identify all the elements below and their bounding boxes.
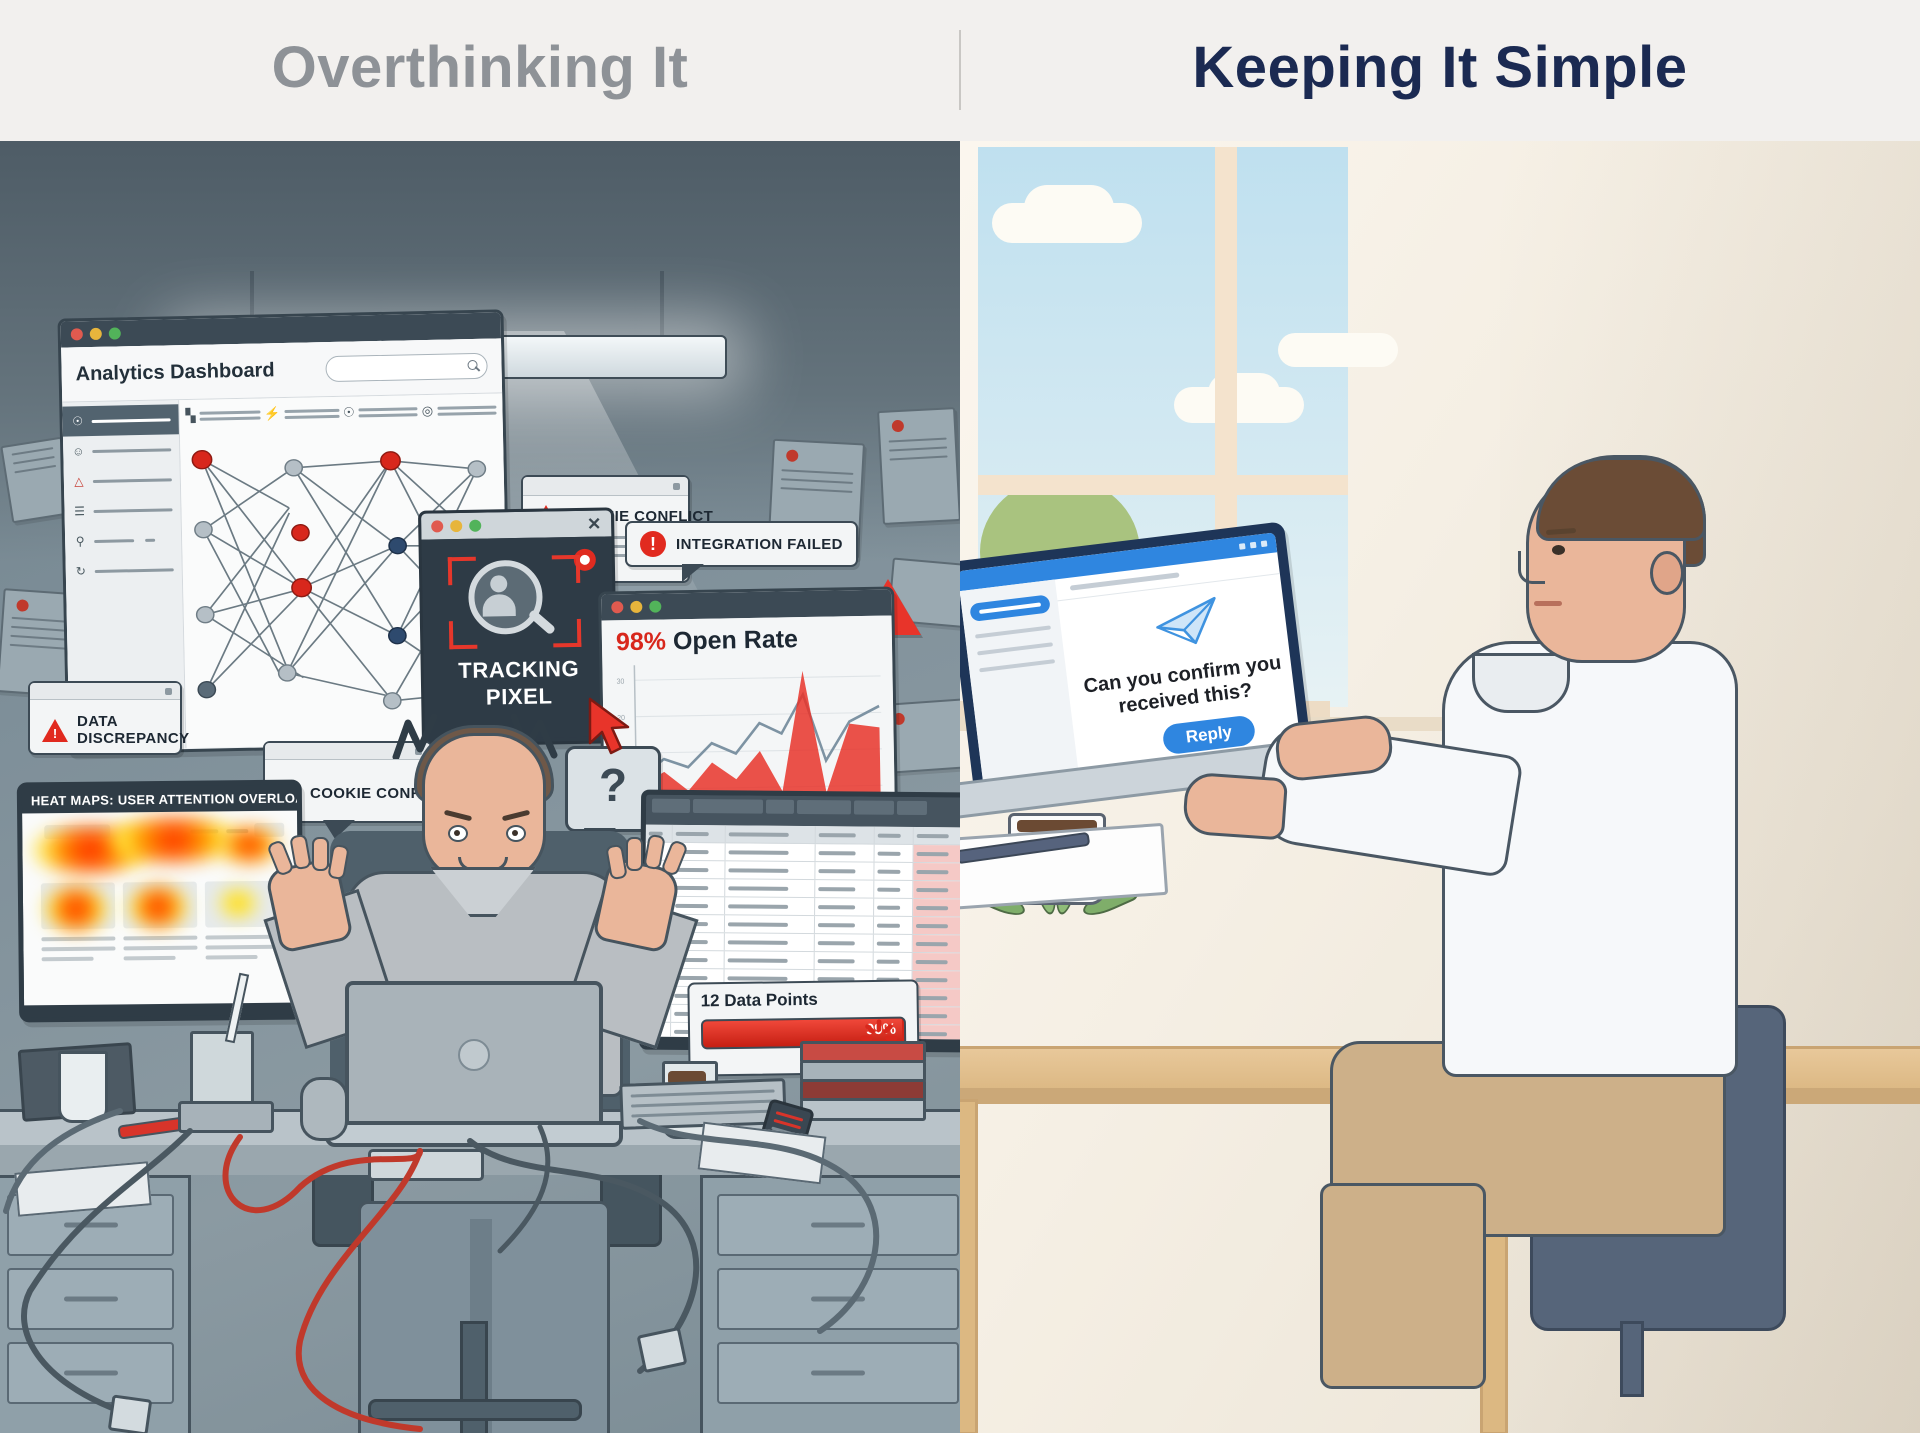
maximize-dot-icon[interactable] <box>109 327 121 339</box>
email-message-text: Can you confirm you received this? <box>1075 650 1293 724</box>
close-icon[interactable]: ✕ <box>587 515 602 532</box>
coffee-cup-paper <box>58 1051 108 1123</box>
laptop-base-left <box>325 1121 623 1147</box>
stat-target: ◎ <box>422 402 497 420</box>
search-input[interactable] <box>325 353 488 382</box>
stat-signal: ▚ <box>185 406 260 424</box>
stat-lightning: ⚡ <box>264 405 339 423</box>
ui-line <box>205 945 279 950</box>
sidebar-item-location[interactable]: ☉ <box>62 404 179 436</box>
bar-chart-icon: ☰ <box>72 504 86 518</box>
person-eye-right <box>506 825 526 842</box>
ui-line <box>123 936 197 941</box>
power-strip <box>368 1149 484 1181</box>
ui-line <box>42 957 94 962</box>
laptop-logo <box>458 1039 490 1071</box>
spreadsheet-toolbar <box>646 795 960 828</box>
data-points-label: 12 Data Points <box>700 989 905 1012</box>
tracking-pixel-body: TRACKING PIXEL <box>421 536 614 739</box>
lamp-stem-right <box>660 271 664 337</box>
warning-icon: △ <box>72 474 86 488</box>
laptop-screen-left[interactable] <box>345 981 603 1129</box>
tracking-pixel-label: TRACKING PIXEL <box>424 654 615 711</box>
target-icon: ◎ <box>422 403 434 419</box>
error-circle-icon: ! <box>640 531 666 557</box>
sidebar-item-alerts[interactable]: △ <box>64 464 181 496</box>
alert-titlebar <box>523 477 688 496</box>
heatmap-screen <box>22 811 299 1006</box>
user-icon: ☺ <box>71 444 85 458</box>
paper-plane-icon <box>1150 594 1226 652</box>
stat-revenue: ☉ <box>343 403 418 421</box>
dashboard-title: Analytics Dashboard <box>75 359 274 386</box>
pin-icon <box>16 599 29 612</box>
dollar-globe-icon: ☉ <box>343 405 355 421</box>
window-titlebar: ✕ <box>421 510 611 539</box>
lightning-bolt-icon: ⚡ <box>264 406 281 422</box>
maximize-dot-icon[interactable] <box>469 520 481 532</box>
desk-cabinet-right <box>700 1175 960 1433</box>
mouth <box>1534 601 1562 606</box>
ear <box>1650 551 1684 595</box>
right-panel-title: Keeping It Simple <box>960 28 1920 108</box>
comparison-illustration: Overthinking It Keeping It Simple <box>0 0 1920 1433</box>
minimize-dot-icon[interactable] <box>630 601 642 613</box>
alert-data-discrepancy[interactable]: DATA DISCREPANCY <box>28 681 182 755</box>
svg-text:30: 30 <box>617 676 625 685</box>
alert-integration-failed[interactable]: ! INTEGRATION FAILED <box>625 521 858 567</box>
person-shin-right <box>1320 1183 1486 1389</box>
cable-connector <box>108 1394 153 1433</box>
warning-triangle-icon <box>42 719 68 742</box>
ui-line <box>206 955 258 960</box>
heatmap-title: HEAT MAPS: USER ATTENTION OVERLOAD <box>22 785 297 814</box>
header-bar: Overthinking It Keeping It Simple <box>0 0 1920 141</box>
pin-icon <box>892 420 905 433</box>
tracking-line-1: TRACKING <box>458 656 579 683</box>
open-rate-heading: 98% Open Rate <box>602 615 893 659</box>
alert-titlebar <box>30 683 180 700</box>
stat-row: ▚ ⚡ ☉ ◎ <box>179 393 502 426</box>
signal-bars-icon: ▚ <box>185 408 195 424</box>
left-panel-title: Overthinking It <box>0 28 960 108</box>
open-rate-label: Open Rate <box>673 625 799 655</box>
refresh-icon: ↻ <box>74 564 88 578</box>
book-stack <box>800 1041 920 1115</box>
computer-mouse[interactable] <box>300 1077 348 1141</box>
compose-button[interactable] <box>969 594 1051 622</box>
wall-note <box>877 407 960 525</box>
alert-text: INTEGRATION FAILED <box>676 536 843 553</box>
usb-hub <box>178 1101 274 1133</box>
close-dot-icon[interactable] <box>71 328 83 340</box>
tracking-line-2: PIXEL <box>486 683 553 709</box>
minimize-dot-icon[interactable] <box>450 520 462 532</box>
bubble-tail <box>682 564 704 582</box>
dashboard-toolbar: Analytics Dashboard <box>61 338 502 402</box>
sidebar-item-charts[interactable]: ☰ <box>64 494 181 526</box>
sidebar-item-user[interactable]: ☺ <box>63 434 180 466</box>
close-dot-icon[interactable] <box>611 601 623 613</box>
chair-base <box>368 1399 582 1421</box>
close-dot-icon[interactable] <box>431 520 443 532</box>
chair-post-right <box>1620 1321 1644 1397</box>
person-hand-right <box>1182 772 1288 841</box>
ui-line <box>124 956 176 961</box>
left-scene-overthinking: Analytics Dashboard ☉ ☺ △ ☰ ⚲ ↻ ▚ <box>0 141 960 1433</box>
nose <box>1518 551 1545 584</box>
sidebar-item-refresh[interactable]: ↻ <box>65 554 182 586</box>
alert-text: DATA DISCREPANCY <box>77 713 189 747</box>
minimize-dot-icon[interactable] <box>90 328 102 340</box>
heatmap-monitor[interactable]: HEAT MAPS: USER ATTENTION OVERLOAD <box>17 780 304 1023</box>
ui-line <box>41 936 115 941</box>
person-eye-left <box>448 825 468 842</box>
pin-icon <box>786 449 799 462</box>
right-scene-foreground: Can you confirm you received this? Reply <box>960 141 1920 1433</box>
ui-line <box>41 946 115 951</box>
ui-line <box>123 946 197 951</box>
maximize-dot-icon[interactable] <box>649 600 661 612</box>
open-rate-percent: 98% <box>616 627 667 656</box>
eye <box>1552 545 1565 555</box>
shirt-collar-right <box>1472 653 1570 713</box>
location-pin-icon: ☉ <box>70 414 84 428</box>
user-search-icon: ⚲ <box>73 534 87 548</box>
sidebar-item-user-search[interactable]: ⚲ <box>65 524 182 556</box>
